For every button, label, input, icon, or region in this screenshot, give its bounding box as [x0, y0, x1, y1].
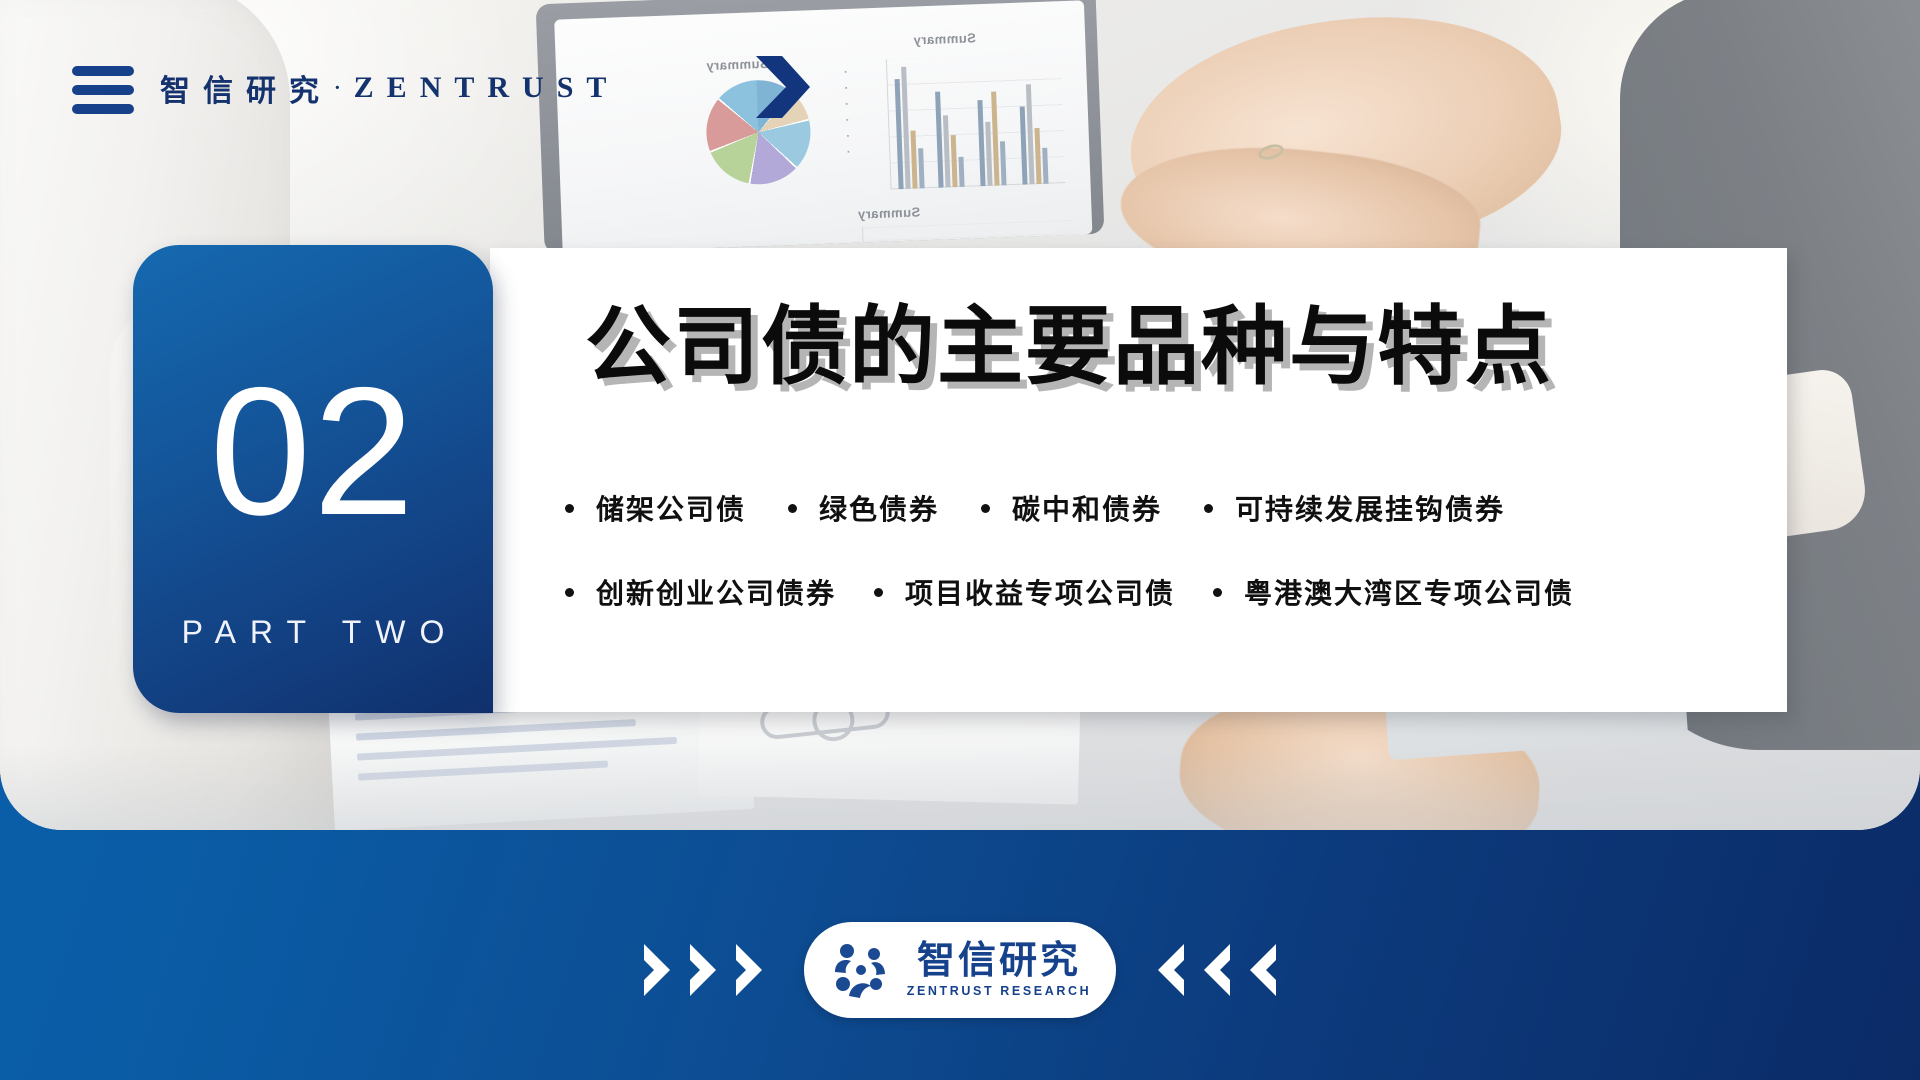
brand-separator: ·	[334, 77, 352, 100]
screen-label-line: Summary	[857, 204, 920, 221]
hamburger-bar-2	[72, 85, 134, 95]
bullet-dot-icon	[788, 504, 797, 513]
chevrons-right-icon	[640, 942, 768, 998]
footer-logo-text: 智信研究 ZENTRUST RESEARCH	[907, 942, 1091, 998]
slide-root: Summary Summary Summary ▪▪▪▪▪▪	[0, 0, 1920, 1080]
bullet-label: 绿色债券	[819, 488, 939, 528]
photo-desk-shadow	[0, 745, 1920, 830]
bullet-dot-icon	[565, 588, 574, 597]
list-item[interactable]: 绿色债券	[788, 488, 939, 528]
bullet-row-2: 创新创业公司债券 项目收益专项公司债 粤港澳大湾区专项公司债	[565, 572, 1775, 612]
bullet-label: 创新创业公司债券	[596, 572, 836, 612]
bullet-dot-icon	[1204, 504, 1213, 513]
page-title: 公司债的主要品种与特点	[585, 300, 1765, 395]
list-item[interactable]: 储架公司债	[565, 488, 746, 528]
slide-header: 智信研究 · ZENTRUST	[0, 0, 1920, 170]
bullet-list: 储架公司债 绿色债券 碳中和债券 可持续发展挂钩债券 创新创业公司债券	[565, 488, 1775, 656]
people-group-icon	[829, 938, 893, 1002]
list-item[interactable]: 创新创业公司债券	[565, 572, 836, 612]
footer-logo[interactable]: 智信研究 ZENTRUST RESEARCH	[804, 922, 1116, 1018]
list-item[interactable]: 碳中和债券	[981, 488, 1162, 528]
section-number-card: 02 PART TWO	[133, 245, 493, 713]
chevron-left-3	[1244, 942, 1280, 998]
brand-name-cn: 智信研究	[160, 66, 332, 110]
footer-logo-en: ZENTRUST RESEARCH	[907, 985, 1091, 998]
list-item[interactable]: 粤港澳大湾区专项公司债	[1213, 572, 1574, 612]
hamburger-icon[interactable]	[72, 66, 134, 114]
chevron-left-1	[1152, 942, 1188, 998]
slide-footer: 智信研究 ZENTRUST RESEARCH	[0, 860, 1920, 1080]
footer-logo-cn: 智信研究	[917, 942, 1081, 980]
chevron-right-2	[686, 942, 722, 998]
chevron-right-3	[732, 942, 768, 998]
chevrons-left-icon	[1152, 942, 1280, 998]
bullet-label: 粤港澳大湾区专项公司债	[1244, 572, 1574, 612]
hamburger-bar-3	[72, 104, 134, 114]
chevron-right-1	[640, 942, 676, 998]
bullet-dot-icon	[981, 504, 990, 513]
chevron-left-2	[1198, 942, 1234, 998]
section-label: PART TWO	[182, 614, 459, 651]
list-item[interactable]: 可持续发展挂钩债券	[1204, 488, 1505, 528]
bullet-label: 可持续发展挂钩债券	[1235, 488, 1505, 528]
brand-name-en: ZENTRUST	[354, 71, 620, 105]
bullet-dot-icon	[874, 588, 883, 597]
hamburger-bar-1	[72, 66, 134, 76]
list-item[interactable]: 项目收益专项公司债	[874, 572, 1175, 612]
bullet-row-1: 储架公司债 绿色债券 碳中和债券 可持续发展挂钩债券	[565, 488, 1775, 528]
bullet-dot-icon	[565, 504, 574, 513]
section-number: 02	[210, 360, 416, 542]
bullet-label: 储架公司债	[596, 488, 746, 528]
brand-lockup: 智信研究 · ZENTRUST	[160, 62, 619, 114]
bullet-dot-icon	[1213, 588, 1222, 597]
chevron-right-logo-icon	[752, 52, 814, 122]
bullet-label: 项目收益专项公司债	[905, 572, 1175, 612]
bullet-label: 碳中和债券	[1012, 488, 1162, 528]
